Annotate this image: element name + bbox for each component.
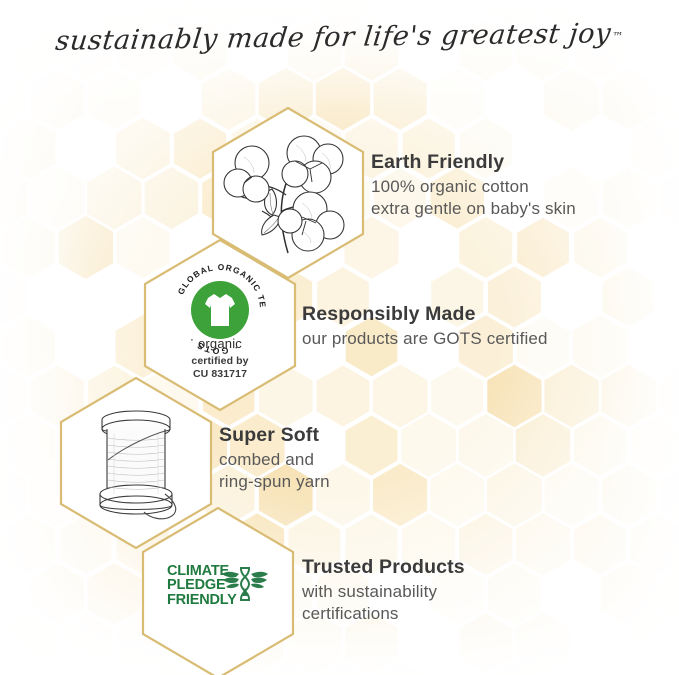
- honeycomb-cell: [459, 514, 512, 576]
- honeycomb-cell: [660, 69, 679, 129]
- honeycomb-cell: [87, 167, 142, 230]
- honeycomb-cell: [31, 563, 84, 624]
- honeycomb-cell: [145, 167, 199, 229]
- feature-line: ring-spun yarn: [219, 471, 330, 493]
- honeycomb-cell: [0, 464, 27, 525]
- honeycomb-cell: [516, 513, 570, 575]
- honeycomb-cell: [30, 167, 84, 229]
- honeycomb-cell: [373, 464, 427, 527]
- honeycomb-cell: [459, 217, 512, 278]
- honeycomb-cell: [516, 414, 570, 477]
- feature-line: 100% organic cotton: [371, 176, 576, 198]
- honeycomb-cell: [0, 365, 27, 427]
- honeycomb-cell: [517, 218, 569, 278]
- honeycomb-cell: [660, 465, 679, 524]
- honeycomb-cell: [0, 564, 26, 625]
- honeycomb-cell: [0, 267, 26, 328]
- gots-certified-by-label: certified by: [140, 355, 300, 368]
- cpf-line-3: FRIENDLY: [167, 593, 237, 607]
- feature-title: Responsibly Made: [302, 304, 548, 326]
- feature-title: Super Soft: [219, 425, 330, 447]
- feature-text-super-soft: Super Soft combed and ring-spun yarn: [219, 425, 330, 494]
- trademark-symbol: ™: [611, 30, 623, 43]
- honeycomb-cell: [631, 613, 679, 675]
- infographic-root: sustainably made for life's greatest joy…: [0, 0, 679, 675]
- honeycomb-cell: [88, 69, 140, 129]
- gots-license-number: CU 831717: [140, 368, 300, 381]
- honeycomb-cell: [487, 365, 541, 428]
- honeycomb-cell: [544, 365, 598, 428]
- honeycomb-cell: [603, 168, 655, 228]
- honeycomb-cell: [60, 614, 112, 673]
- honeycomb-cell: [574, 415, 627, 476]
- honeycomb-cell: [631, 118, 679, 179]
- honeycomb-cell: [2, 613, 55, 674]
- honeycomb-cell: [545, 464, 599, 526]
- honeycomb-cell: [602, 68, 656, 130]
- feature-line: certifications: [302, 603, 465, 625]
- honeycomb-cell: [88, 563, 142, 625]
- honeycomb-cell: [431, 366, 483, 426]
- feature-title: Trusted Products: [302, 557, 465, 579]
- honeycomb-cell: [3, 514, 55, 574]
- headline-text: sustainably made for life's greatest joy: [54, 18, 613, 57]
- honeycomb-cell: [601, 562, 656, 625]
- honeycomb-cell: [2, 414, 56, 476]
- honeycomb-cell: [602, 465, 655, 526]
- honeycomb-cell: [116, 118, 170, 180]
- honeycomb-cell: [460, 613, 512, 673]
- feature-text-trusted-products: Trusted Products with sustainability cer…: [302, 557, 465, 626]
- gots-organic-label: organic: [140, 336, 300, 351]
- honeycomb-cell: [602, 365, 656, 428]
- honeycomb-cell: [660, 168, 679, 228]
- honeycomb-cell: [574, 218, 626, 278]
- honeycomb-cell: [516, 612, 570, 675]
- honeycomb-cell: [431, 69, 484, 130]
- honeycomb-cell: [487, 463, 542, 526]
- honeycomb-cell: [573, 315, 628, 378]
- honeycomb-cell: [2, 217, 55, 278]
- honeycomb-cell: [2, 117, 56, 179]
- climate-pledge-wordmark: CLIMATE PLEDGE FRIENDLY: [167, 564, 237, 607]
- honeycomb-cell: [31, 68, 84, 129]
- feature-line: with sustainability: [302, 581, 465, 603]
- gots-caption: organic certified by CU 831717: [140, 336, 300, 381]
- honeycomb-cell: [631, 514, 679, 575]
- cpf-line-1: CLIMATE: [167, 564, 237, 578]
- honeycomb-cell: [401, 414, 456, 477]
- honeycomb-cell: [430, 464, 484, 526]
- honeycomb-cell: [317, 366, 370, 427]
- honeycomb-cell: [373, 365, 428, 428]
- feature-text-earth-friendly: Earth Friendly 100% organic cotton extra…: [371, 152, 576, 221]
- feature-line: combed and: [219, 449, 330, 471]
- honeycomb-cell: [544, 67, 599, 130]
- feature-title: Earth Friendly: [371, 152, 576, 174]
- cotton-branch-icon: [222, 125, 356, 266]
- feature-text-responsibly-made: Responsibly Made our products are GOTS c…: [302, 304, 548, 350]
- cpf-line-2: PLEDGE: [167, 578, 237, 592]
- honeycomb-cell: [374, 68, 427, 130]
- feature-line: extra gentle on baby's skin: [371, 198, 576, 220]
- honeycomb-cell: [459, 414, 513, 477]
- page-headline: sustainably made for life's greatest joy…: [0, 22, 679, 53]
- honeycomb-cell: [346, 416, 398, 476]
- honeycomb-cell: [488, 563, 541, 624]
- honeycomb-cell: [574, 515, 626, 575]
- thread-spool-icon: [78, 398, 198, 531]
- honeycomb-cell: [59, 216, 114, 279]
- honeycomb-cell: [2, 316, 54, 376]
- honeycomb-cell: [603, 267, 655, 327]
- feature-line: our products are GOTS certified: [302, 328, 548, 350]
- honeycomb-cell: [631, 416, 679, 476]
- honeycomb-cell: [0, 69, 26, 129]
